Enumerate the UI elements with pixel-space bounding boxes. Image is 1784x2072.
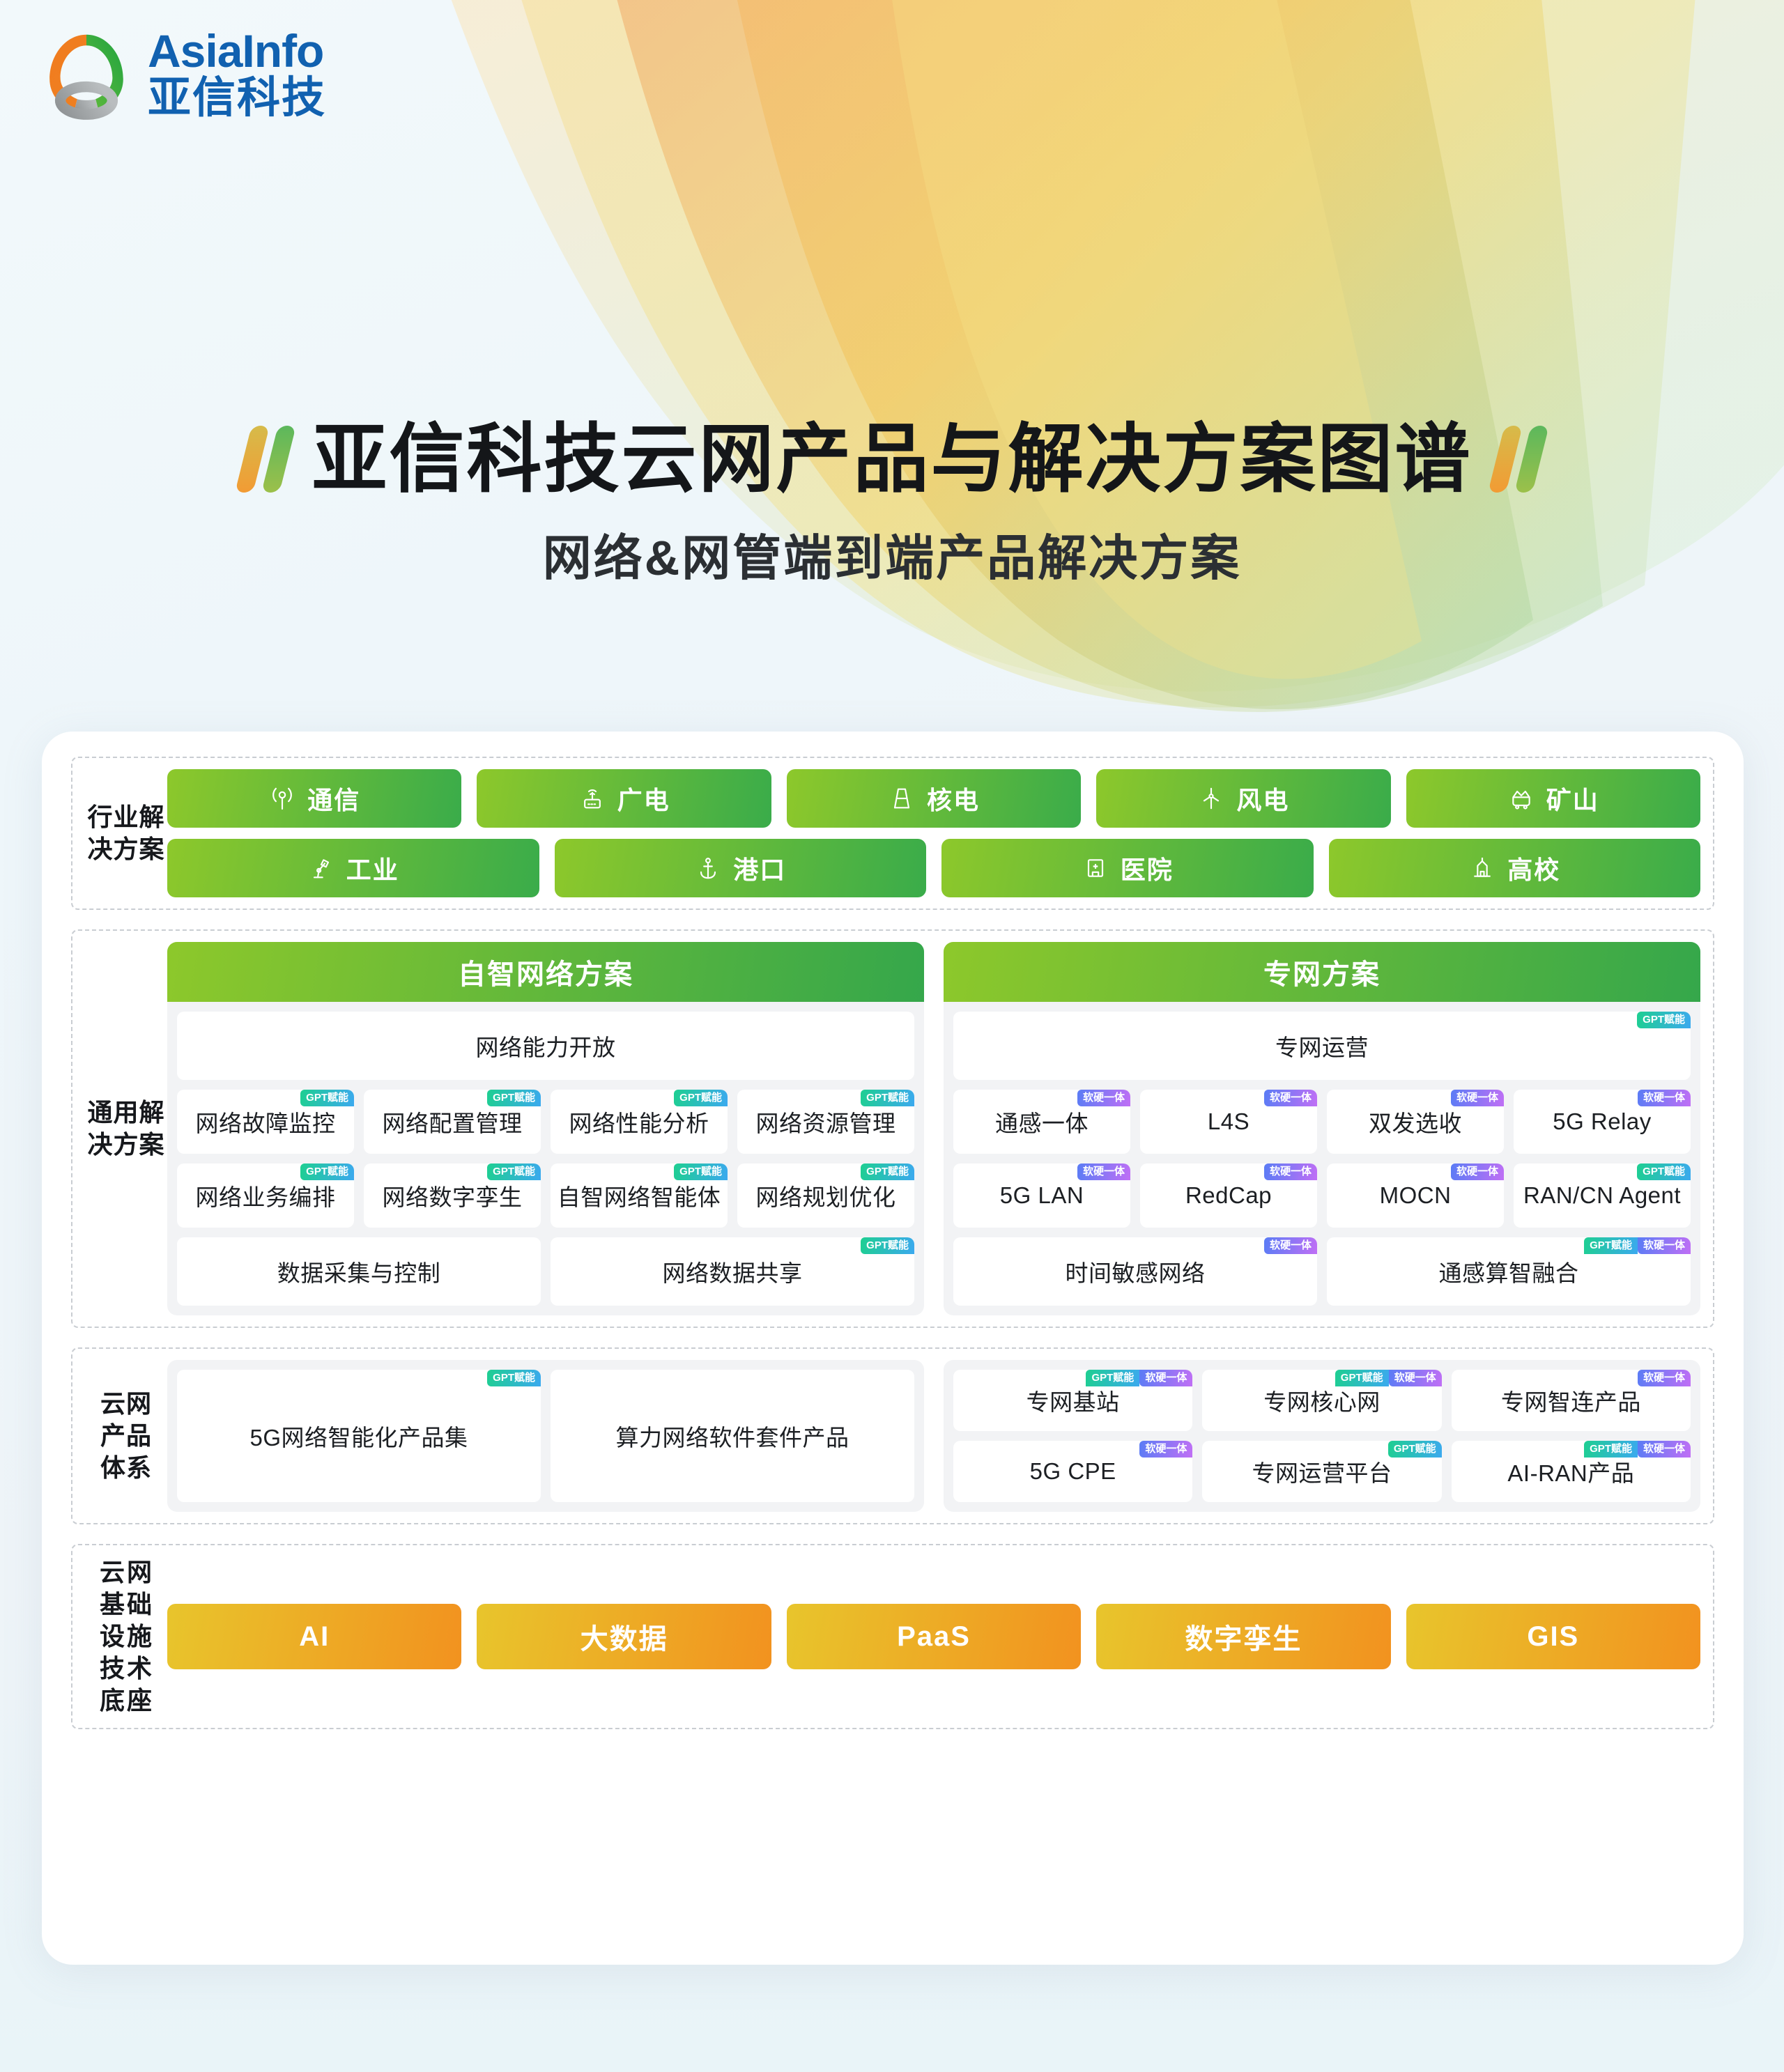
badge-gpt: GPT赋能	[674, 1090, 728, 1106]
badge-hw: 软硬一体	[1451, 1163, 1504, 1180]
brand-logo: AsiaInfo 亚信科技	[40, 28, 326, 121]
industry-tile-label: 核电	[927, 780, 980, 817]
solution-cell[interactable]: GPT赋能 网络配置管理	[364, 1090, 541, 1154]
solution-cell[interactable]: GPT赋能 专网运营	[953, 1012, 1691, 1080]
badge-group: GPT赋能	[861, 1090, 914, 1106]
badge-group: GPT赋能	[1637, 1012, 1691, 1028]
industry-tile-label: 风电	[1236, 780, 1289, 817]
badge-group: GPT赋能 软硬一体	[1335, 1370, 1442, 1386]
badge-group: 软硬一体	[1638, 1090, 1691, 1106]
university-icon	[1468, 854, 1496, 882]
industry-tile-wind[interactable]: 风电	[1096, 769, 1390, 828]
product-cell[interactable]: 算力网络软件套件产品	[551, 1370, 914, 1502]
column-title: 自智网络方案	[167, 942, 924, 1002]
badge-gpt: GPT赋能	[1335, 1370, 1389, 1386]
poster-page: AsiaInfo 亚信科技 亚信科技云网产品与解决方案图谱 网络&网管端到端产品…	[0, 0, 1784, 2072]
brand-name-en: AsiaInfo	[148, 28, 326, 74]
diagram-card: 行业解 决方案 通信	[42, 732, 1744, 1965]
badge-group: 软硬一体	[1264, 1237, 1317, 1254]
badge-hw: 软硬一体	[1451, 1090, 1504, 1106]
solution-cell[interactable]: 软硬一体 RedCap	[1140, 1163, 1317, 1228]
badge-hw: 软硬一体	[1139, 1370, 1192, 1386]
base-tile-bigdata[interactable]: 大数据	[477, 1604, 771, 1669]
band-general: 通用解 决方案 自智网络方案 网络能力开放 GPT赋能	[71, 929, 1714, 1328]
badge-gpt: GPT赋能	[1637, 1163, 1691, 1180]
solution-cell[interactable]: GPT赋能 自智网络智能体	[551, 1163, 728, 1228]
badge-hw: 软硬一体	[1638, 1237, 1691, 1254]
industry-tile-nuclear[interactable]: 核电	[787, 769, 1081, 828]
badge-hw: 软硬一体	[1264, 1090, 1317, 1106]
badge-hw: 软硬一体	[1389, 1370, 1442, 1386]
product-cell[interactable]: 软硬一体 5G CPE	[953, 1441, 1192, 1502]
brand-name-cn: 亚信科技	[148, 75, 326, 121]
solution-column-autonomous: 自智网络方案 网络能力开放 GPT赋能 网络故障监控	[167, 942, 924, 1315]
industry-tile-label: 通信	[307, 780, 360, 817]
column-title: 专网方案	[944, 942, 1700, 1002]
industry-row-2: 工业 港口 医院	[167, 839, 1700, 897]
badge-hw: 软硬一体	[1638, 1370, 1691, 1386]
base-tile-digital-twin[interactable]: 数字孪生	[1096, 1604, 1390, 1669]
badge-hw: 软硬一体	[1638, 1090, 1691, 1106]
industry-tile-label: 矿山	[1546, 780, 1599, 817]
badge-hw: 软硬一体	[1077, 1163, 1130, 1180]
page-subtitle: 网络&网管端到端产品解决方案	[0, 519, 1784, 589]
solution-cell[interactable]: 数据采集与控制	[177, 1237, 541, 1306]
band-base-label-text: 云网基础设施技术底座	[100, 1556, 153, 1717]
badge-group: 软硬一体	[1264, 1090, 1317, 1106]
solution-cell[interactable]: 软硬一体 MOCN	[1327, 1163, 1504, 1228]
badge-group: GPT赋能	[1637, 1163, 1691, 1180]
broadcast-router-icon	[578, 784, 606, 812]
solution-cell[interactable]: GPT赋能 网络业务编排	[177, 1163, 354, 1228]
badge-group: 软硬一体	[1451, 1163, 1504, 1180]
badge-group: GPT赋能	[674, 1090, 728, 1106]
industry-tile-port[interactable]: 港口	[555, 839, 927, 897]
badge-gpt: GPT赋能	[1584, 1237, 1638, 1254]
title-left-slashes	[243, 426, 288, 493]
badge-gpt: GPT赋能	[487, 1370, 541, 1386]
badge-group: 软硬一体	[1451, 1090, 1504, 1106]
badge-gpt: GPT赋能	[861, 1163, 914, 1180]
solution-cell[interactable]: 软硬一体 双发选收	[1327, 1090, 1504, 1154]
badge-group: 软硬一体	[1139, 1441, 1192, 1458]
solution-cell[interactable]: GPT赋能 网络数据共享	[551, 1237, 914, 1306]
product-cell[interactable]: 软硬一体 专网智连产品	[1452, 1370, 1691, 1431]
product-pane-right: GPT赋能 软硬一体 专网基站 GPT赋能 软硬一体 专网核心网	[944, 1360, 1700, 1512]
badge-group: GPT赋能	[487, 1090, 541, 1106]
badge-gpt: GPT赋能	[1086, 1370, 1139, 1386]
solution-cell[interactable]: 软硬一体 L4S	[1140, 1090, 1317, 1154]
asiainfo-logo-icon	[40, 29, 132, 121]
solution-cell[interactable]: GPT赋能 网络故障监控	[177, 1090, 354, 1154]
badge-group: GPT赋能	[861, 1163, 914, 1180]
base-tile-ai[interactable]: AI	[167, 1604, 461, 1669]
badge-hw: 软硬一体	[1264, 1237, 1317, 1254]
solution-cell[interactable]: GPT赋能 网络资源管理	[737, 1090, 914, 1154]
badge-gpt: GPT赋能	[1584, 1441, 1638, 1458]
solution-cell[interactable]: 软硬一体 通感一体	[953, 1090, 1130, 1154]
industry-tile-label: 工业	[346, 850, 399, 886]
solution-cell[interactable]: 软硬一体 时间敏感网络	[953, 1237, 1317, 1306]
title-block: 亚信科技云网产品与解决方案图谱 网络&网管端到端产品解决方案	[0, 418, 1784, 589]
badge-gpt: GPT赋能	[300, 1163, 354, 1180]
industry-tile-mine[interactable]: 矿山	[1406, 769, 1700, 828]
industry-tile-hospital[interactable]: 医院	[941, 839, 1314, 897]
industry-tile-label: 港口	[733, 850, 786, 886]
product-cell[interactable]: GPT赋能 专网运营平台	[1202, 1441, 1441, 1502]
solution-cell[interactable]: GPT赋能 RAN/CN Agent	[1514, 1163, 1691, 1228]
badge-gpt: GPT赋能	[861, 1237, 914, 1254]
badge-hw: 软硬一体	[1638, 1441, 1691, 1458]
band-products: 云网 产品 体系 GPT赋能 5G网络智能化产品集 算力网络软件套件产品	[71, 1347, 1714, 1524]
badge-group: 软硬一体	[1077, 1163, 1130, 1180]
page-title: 亚信科技云网产品与解决方案图谱	[312, 418, 1472, 501]
industry-tile-label: 广电	[617, 780, 670, 817]
badge-group: GPT赋能	[861, 1237, 914, 1254]
badge-hw: 软硬一体	[1139, 1441, 1192, 1458]
badge-gpt: GPT赋能	[1637, 1012, 1691, 1028]
solution-cell[interactable]: GPT赋能 网络数字孪生	[364, 1163, 541, 1228]
robot-arm-icon	[307, 854, 335, 882]
badge-hw: 软硬一体	[1264, 1163, 1317, 1180]
signal-tower-icon	[268, 784, 296, 812]
badge-group: 软硬一体	[1638, 1370, 1691, 1386]
mine-cart-icon	[1507, 784, 1535, 812]
badge-gpt: GPT赋能	[1388, 1441, 1442, 1458]
solution-cell[interactable]: GPT赋能 软硬一体 通感算智融合	[1327, 1237, 1691, 1306]
product-cell[interactable]: GPT赋能 软硬一体 专网基站	[953, 1370, 1192, 1431]
product-pane-left: GPT赋能 5G网络智能化产品集 算力网络软件套件产品	[167, 1360, 924, 1512]
anchor-icon	[694, 854, 722, 882]
solution-cell[interactable]: 网络能力开放	[177, 1012, 914, 1080]
badge-group: 软硬一体	[1264, 1163, 1317, 1180]
badge-gpt: GPT赋能	[674, 1163, 728, 1180]
industry-tile-label: 高校	[1507, 850, 1560, 886]
badge-group: GPT赋能	[1388, 1441, 1442, 1458]
badge-gpt: GPT赋能	[861, 1090, 914, 1106]
industry-tile-communication[interactable]: 通信	[167, 769, 461, 828]
badge-group: 软硬一体	[1077, 1090, 1130, 1106]
badge-group: GPT赋能 软硬一体	[1584, 1441, 1691, 1458]
band-general-label: 通用解 决方案	[85, 942, 167, 1315]
industry-tile-broadcast[interactable]: 广电	[477, 769, 771, 828]
solution-cell[interactable]: GPT赋能 网络规划优化	[737, 1163, 914, 1228]
industry-tile-label: 医院	[1121, 850, 1174, 886]
product-cell[interactable]: GPT赋能 5G网络智能化产品集	[177, 1370, 541, 1502]
base-tile-paas[interactable]: PaaS	[787, 1604, 1081, 1669]
title-right-slashes	[1496, 426, 1541, 493]
badge-group: GPT赋能	[487, 1163, 541, 1180]
industry-tile-industrial[interactable]: 工业	[167, 839, 539, 897]
band-base: 云网基础设施技术底座 AI 大数据 PaaS 数字孪生 GIS	[71, 1544, 1714, 1729]
badge-group: GPT赋能	[300, 1163, 354, 1180]
product-cell[interactable]: GPT赋能 软硬一体 专网核心网	[1202, 1370, 1441, 1431]
badge-group: GPT赋能 软硬一体	[1584, 1237, 1691, 1254]
base-tile-gis[interactable]: GIS	[1406, 1604, 1700, 1669]
hospital-icon	[1082, 854, 1109, 882]
badge-hw: 软硬一体	[1077, 1090, 1130, 1106]
industry-tile-university[interactable]: 高校	[1329, 839, 1701, 897]
badge-gpt: GPT赋能	[487, 1090, 541, 1106]
solution-cell[interactable]: GPT赋能 网络性能分析	[551, 1090, 728, 1154]
band-industry: 行业解 决方案 通信	[71, 757, 1714, 910]
badge-gpt: GPT赋能	[300, 1090, 354, 1106]
badge-gpt: GPT赋能	[487, 1163, 541, 1180]
badge-group: GPT赋能	[300, 1090, 354, 1106]
wind-turbine-icon	[1197, 784, 1225, 812]
badge-group: GPT赋能 软硬一体	[1086, 1370, 1192, 1386]
band-industry-label: 行业解 决方案	[85, 769, 167, 897]
solution-column-private-network: 专网方案 GPT赋能 专网运营 软硬一体 通感一体	[944, 942, 1700, 1315]
band-products-label: 云网 产品 体系	[85, 1360, 167, 1512]
badge-group: GPT赋能	[487, 1370, 541, 1386]
nuclear-plant-icon	[888, 784, 916, 812]
badge-group: GPT赋能	[674, 1163, 728, 1180]
solution-cell[interactable]: 软硬一体 5G Relay	[1514, 1090, 1691, 1154]
industry-row-1: 通信 广电 核电	[167, 769, 1700, 828]
solution-cell[interactable]: 软硬一体 5G LAN	[953, 1163, 1130, 1228]
band-base-label: 云网基础设施技术底座	[85, 1556, 167, 1717]
product-cell[interactable]: GPT赋能 软硬一体 AI-RAN产品	[1452, 1441, 1691, 1502]
